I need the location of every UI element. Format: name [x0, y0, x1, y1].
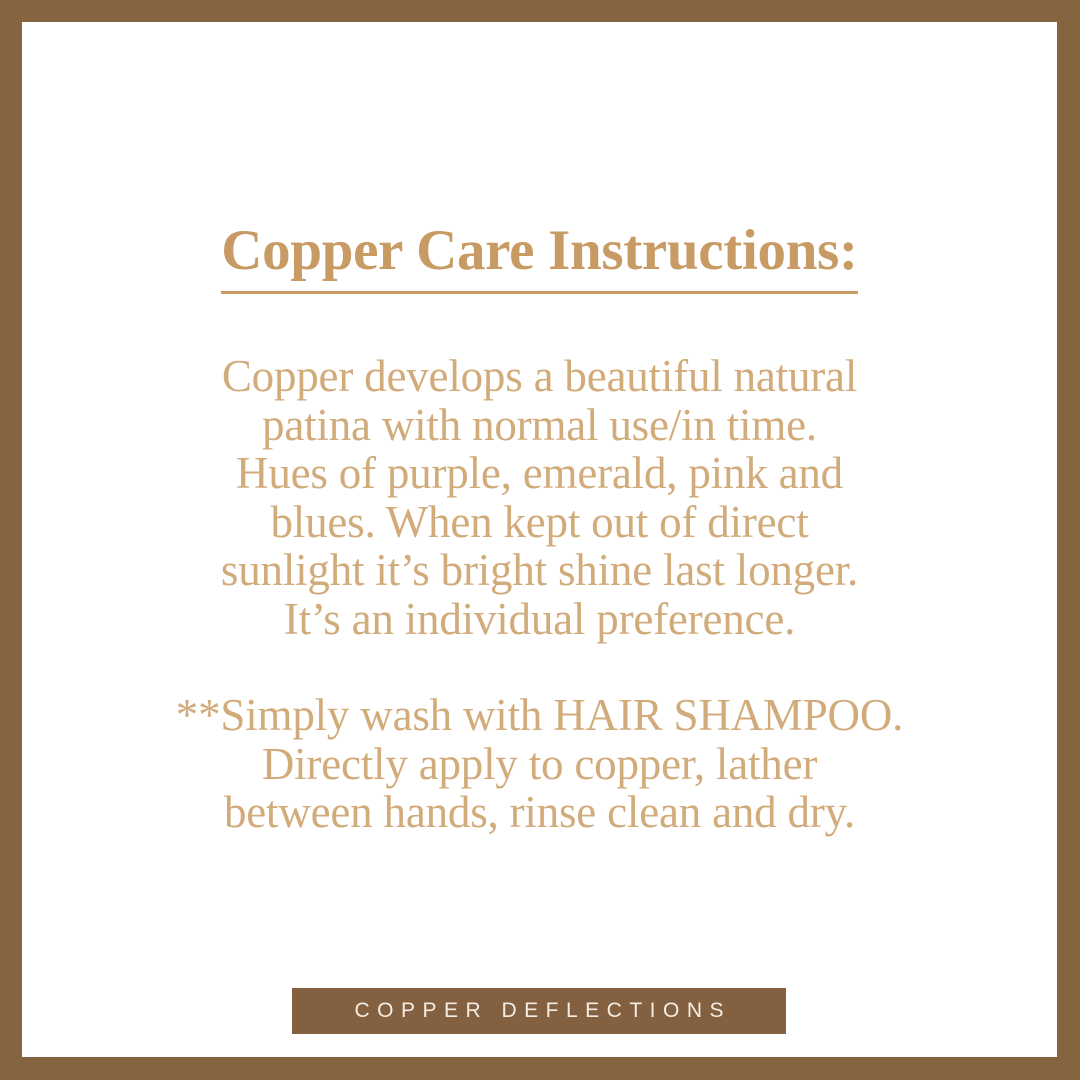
text-line: blues. When kept out of direct	[22, 498, 1057, 547]
card-outer-frame: Copper Care Instructions: Copper develop…	[0, 0, 1080, 1080]
body-copy: Copper develops a beautiful natural pati…	[22, 352, 1057, 837]
text-line: patina with normal use/in time.	[22, 401, 1057, 450]
text-line: **Simply wash with HAIR SHAMPOO.	[22, 691, 1057, 740]
paragraph-patina-info: Copper develops a beautiful natural pati…	[22, 352, 1057, 643]
text-line: sunlight it’s bright shine last longer.	[22, 546, 1057, 595]
text-line: It’s an individual preference.	[22, 595, 1057, 644]
text-line: Directly apply to copper, lather	[22, 740, 1057, 789]
paragraph-spacer	[22, 643, 1057, 691]
text-line: Copper develops a beautiful natural	[22, 352, 1057, 401]
text-line: between hands, rinse clean and dry.	[22, 788, 1057, 837]
text-line: Hues of purple, emerald, pink and	[22, 449, 1057, 498]
page-title: Copper Care Instructions:	[221, 220, 857, 294]
paragraph-washing-instructions: **Simply wash with HAIR SHAMPOO. Directl…	[22, 691, 1057, 837]
title-block: Copper Care Instructions:	[22, 182, 1057, 332]
brand-footer-bar: COPPER DEFLECTIONS	[292, 988, 786, 1034]
card-white-canvas: Copper Care Instructions: Copper develop…	[22, 22, 1057, 1057]
brand-name-label: COPPER DEFLECTIONS	[347, 999, 731, 1023]
